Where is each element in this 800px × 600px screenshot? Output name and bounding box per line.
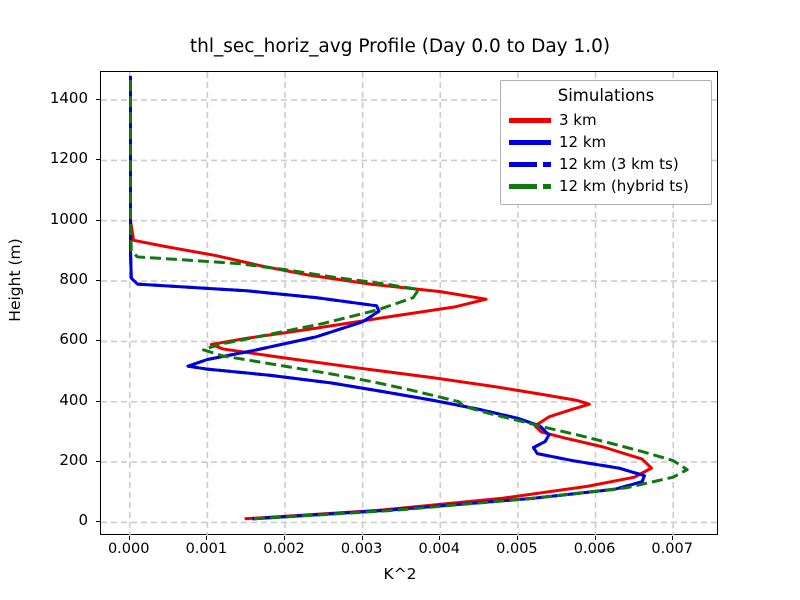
y-tick-label: 0 <box>28 511 88 529</box>
legend-label: 12 km (3 km ts) <box>559 155 679 173</box>
x-tick-label: 0.007 <box>632 541 712 557</box>
y-tick-label: 800 <box>28 270 88 288</box>
x-tick-mark <box>439 536 440 540</box>
x-tick-label: 0.003 <box>322 541 402 557</box>
legend: Simulations 3 km12 km12 km (3 km ts)12 k… <box>500 80 712 205</box>
x-tick-mark <box>672 536 673 540</box>
y-tick-label: 200 <box>28 451 88 469</box>
legend-title: Simulations <box>509 86 703 105</box>
legend-swatch-4 <box>509 178 551 194</box>
x-tick-label: 0.005 <box>477 541 557 557</box>
page-title: thl_sec_horiz_avg Profile (Day 0.0 to Da… <box>0 36 800 57</box>
x-tick-label: 0.004 <box>399 541 479 557</box>
legend-entries: 3 km12 km12 km (3 km ts)12 km (hybrid ts… <box>509 109 703 197</box>
x-tick-label: 0.000 <box>89 541 169 557</box>
x-tick-mark <box>206 536 207 540</box>
figure-canvas: thl_sec_horiz_avg Profile (Day 0.0 to Da… <box>0 0 800 600</box>
legend-swatch-3 <box>509 156 551 172</box>
legend-label: 12 km <box>559 133 606 151</box>
x-tick-label: 0.002 <box>244 541 324 557</box>
y-tick-label: 1200 <box>28 149 88 167</box>
legend-entry[interactable]: 12 km <box>509 131 703 153</box>
y-tick-label: 400 <box>28 391 88 409</box>
x-tick-mark <box>362 536 363 540</box>
y-tick-label: 600 <box>28 330 88 348</box>
y-tick-label: 1400 <box>28 89 88 107</box>
x-axis-label: K^2 <box>0 565 800 583</box>
x-tick-label: 0.001 <box>166 541 246 557</box>
legend-label: 12 km (hybrid ts) <box>559 177 689 195</box>
y-tick-label: 1000 <box>28 210 88 228</box>
legend-swatch-1 <box>509 112 551 128</box>
legend-entry[interactable]: 12 km (3 km ts) <box>509 153 703 175</box>
legend-entry[interactable]: 3 km <box>509 109 703 131</box>
x-tick-mark <box>595 536 596 540</box>
x-tick-mark <box>517 536 518 540</box>
y-axis-label: Height (m) <box>6 160 24 400</box>
x-tick-label: 0.006 <box>555 541 635 557</box>
legend-label: 3 km <box>559 111 597 129</box>
legend-entry[interactable]: 12 km (hybrid ts) <box>509 175 703 197</box>
x-tick-mark <box>129 536 130 540</box>
legend-swatch-2 <box>509 134 551 150</box>
x-tick-mark <box>284 536 285 540</box>
